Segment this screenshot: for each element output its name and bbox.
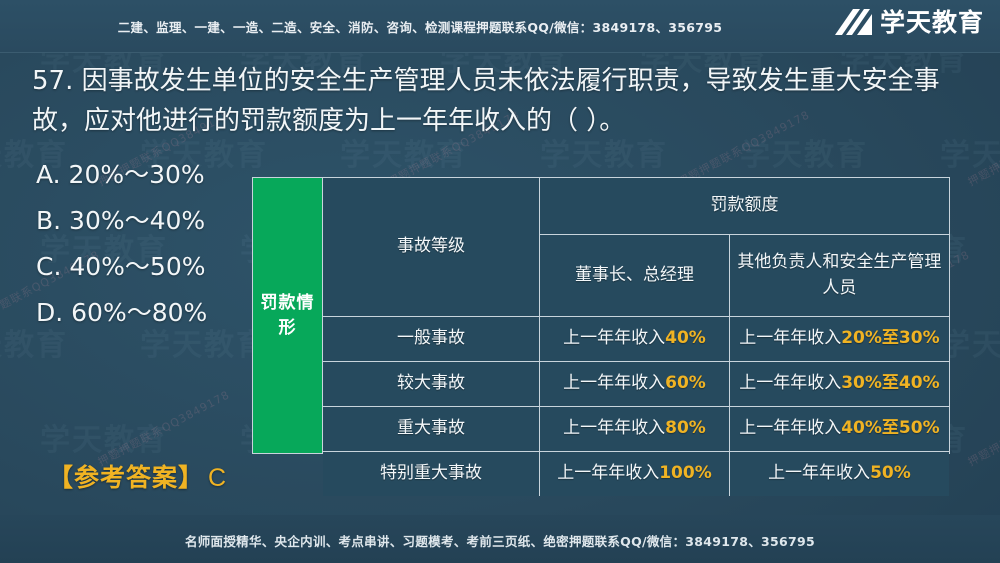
cell-other-value: 30%至40% — [841, 373, 939, 393]
question-text: 57. 因事故发生单位的安全生产管理人员未依法履行职责，导致发生重大安全事故，应… — [32, 62, 962, 141]
cell-chairman: 上一年年收入80% — [540, 407, 730, 452]
brand-logo: 学天教育 — [833, 7, 984, 38]
penalty-table: 罚款情形 事故等级 罚款额度 董事长、总经理 其他负责人和安全生产管理人员 一般… — [252, 177, 950, 454]
watermark-brand-text: 学天教育 — [40, 415, 168, 459]
reference-answer-value: C — [208, 464, 227, 492]
table-row: 一般事故 上一年年收入40% 上一年年收入20%至30% — [323, 317, 949, 362]
cell-other-prefix: 上一年年收入 — [739, 373, 841, 393]
watermark-contact-text: 押题押题联系QQ3849178 — [965, 106, 1000, 189]
header-penalty-amount: 罚款额度 — [540, 178, 949, 235]
slide-root: 学天教育学天教育学天教育学天教育学天教育学天教育学天教育学天教育学天教育学天教育… — [0, 0, 1000, 563]
cell-chairman-value: 80% — [665, 418, 706, 438]
cell-chairman: 上一年年收入40% — [540, 317, 730, 362]
swoosh-arrow-icon — [833, 7, 873, 38]
penalty-table-grid: 事故等级 罚款额度 董事长、总经理 其他负责人和安全生产管理人员 一般事故 上一… — [323, 178, 949, 496]
cell-level: 较大事故 — [323, 362, 540, 407]
watermark-contact-text: 押题押题联系QQ3849178 — [965, 386, 1000, 469]
cell-other: 上一年年收入50% — [729, 452, 949, 497]
cell-other: 上一年年收入20%至30% — [729, 317, 949, 362]
cell-chairman-prefix: 上一年年收入 — [563, 328, 665, 348]
cell-chairman: 上一年年收入100% — [540, 452, 730, 497]
bottom-banner-promo-text: 名师面授精华、央企内训、考点串讲、习题模考、考前三页纸、绝密押题联系QQ/微信：… — [0, 531, 1000, 550]
option-d[interactable]: D. 60%～80% — [36, 300, 207, 325]
cell-other: 上一年年收入30%至40% — [729, 362, 949, 407]
cell-level: 特别重大事故 — [323, 452, 540, 497]
options-list: A. 20%～30% B. 30%～40% C. 40%～50% D. 60%～… — [36, 162, 207, 346]
cell-chairman-prefix: 上一年年收入 — [563, 418, 665, 438]
header-accident-level: 事故等级 — [323, 178, 540, 317]
table-row: 重大事故 上一年年收入80% 上一年年收入40%至50% — [323, 407, 949, 452]
table-header-row-1: 事故等级 罚款额度 — [323, 178, 949, 235]
cell-chairman-prefix: 上一年年收入 — [563, 373, 665, 393]
header-role-chairman: 董事长、总经理 — [540, 235, 730, 317]
cell-chairman-value: 100% — [659, 463, 712, 483]
option-c[interactable]: C. 40%～50% — [36, 254, 207, 279]
cell-level: 一般事故 — [323, 317, 540, 362]
cell-other-prefix: 上一年年收入 — [739, 328, 841, 348]
option-a[interactable]: A. 20%～30% — [36, 162, 207, 187]
cell-other-prefix: 上一年年收入 — [768, 463, 870, 483]
cell-chairman-prefix: 上一年年收入 — [557, 463, 659, 483]
cell-other-value: 40%至50% — [841, 418, 939, 438]
table-row: 特别重大事故 上一年年收入100% 上一年年收入50% — [323, 452, 949, 497]
header-role-other: 其他负责人和安全生产管理人员 — [729, 235, 949, 317]
brand-name: 学天教育 — [880, 10, 984, 35]
top-banner: 二建、监理、一建、一造、二造、安全、消防、咨询、检测课程押题联系QQ/微信：38… — [0, 0, 1000, 53]
cell-other-value: 50% — [870, 463, 911, 483]
bottom-banner: 名师面授精华、央企内训、考点串讲、习题模考、考前三页纸、绝密押题联系QQ/微信：… — [0, 515, 1000, 563]
reference-answer-label: 【参考答案】 — [48, 463, 204, 492]
table-row: 较大事故 上一年年收入60% 上一年年收入30%至40% — [323, 362, 949, 407]
reference-answer: 【参考答案】C — [48, 458, 227, 494]
cell-other: 上一年年收入40%至50% — [729, 407, 949, 452]
cell-level: 重大事故 — [323, 407, 540, 452]
table-side-column: 罚款情形 — [253, 178, 323, 453]
cell-other-prefix: 上一年年收入 — [739, 418, 841, 438]
cell-chairman-value: 60% — [665, 373, 706, 393]
cell-chairman: 上一年年收入60% — [540, 362, 730, 407]
option-b[interactable]: B. 30%～40% — [36, 208, 207, 233]
cell-chairman-value: 40% — [665, 328, 706, 348]
cell-other-value: 20%至30% — [841, 328, 939, 348]
table-side-column-label: 罚款情形 — [253, 291, 322, 340]
